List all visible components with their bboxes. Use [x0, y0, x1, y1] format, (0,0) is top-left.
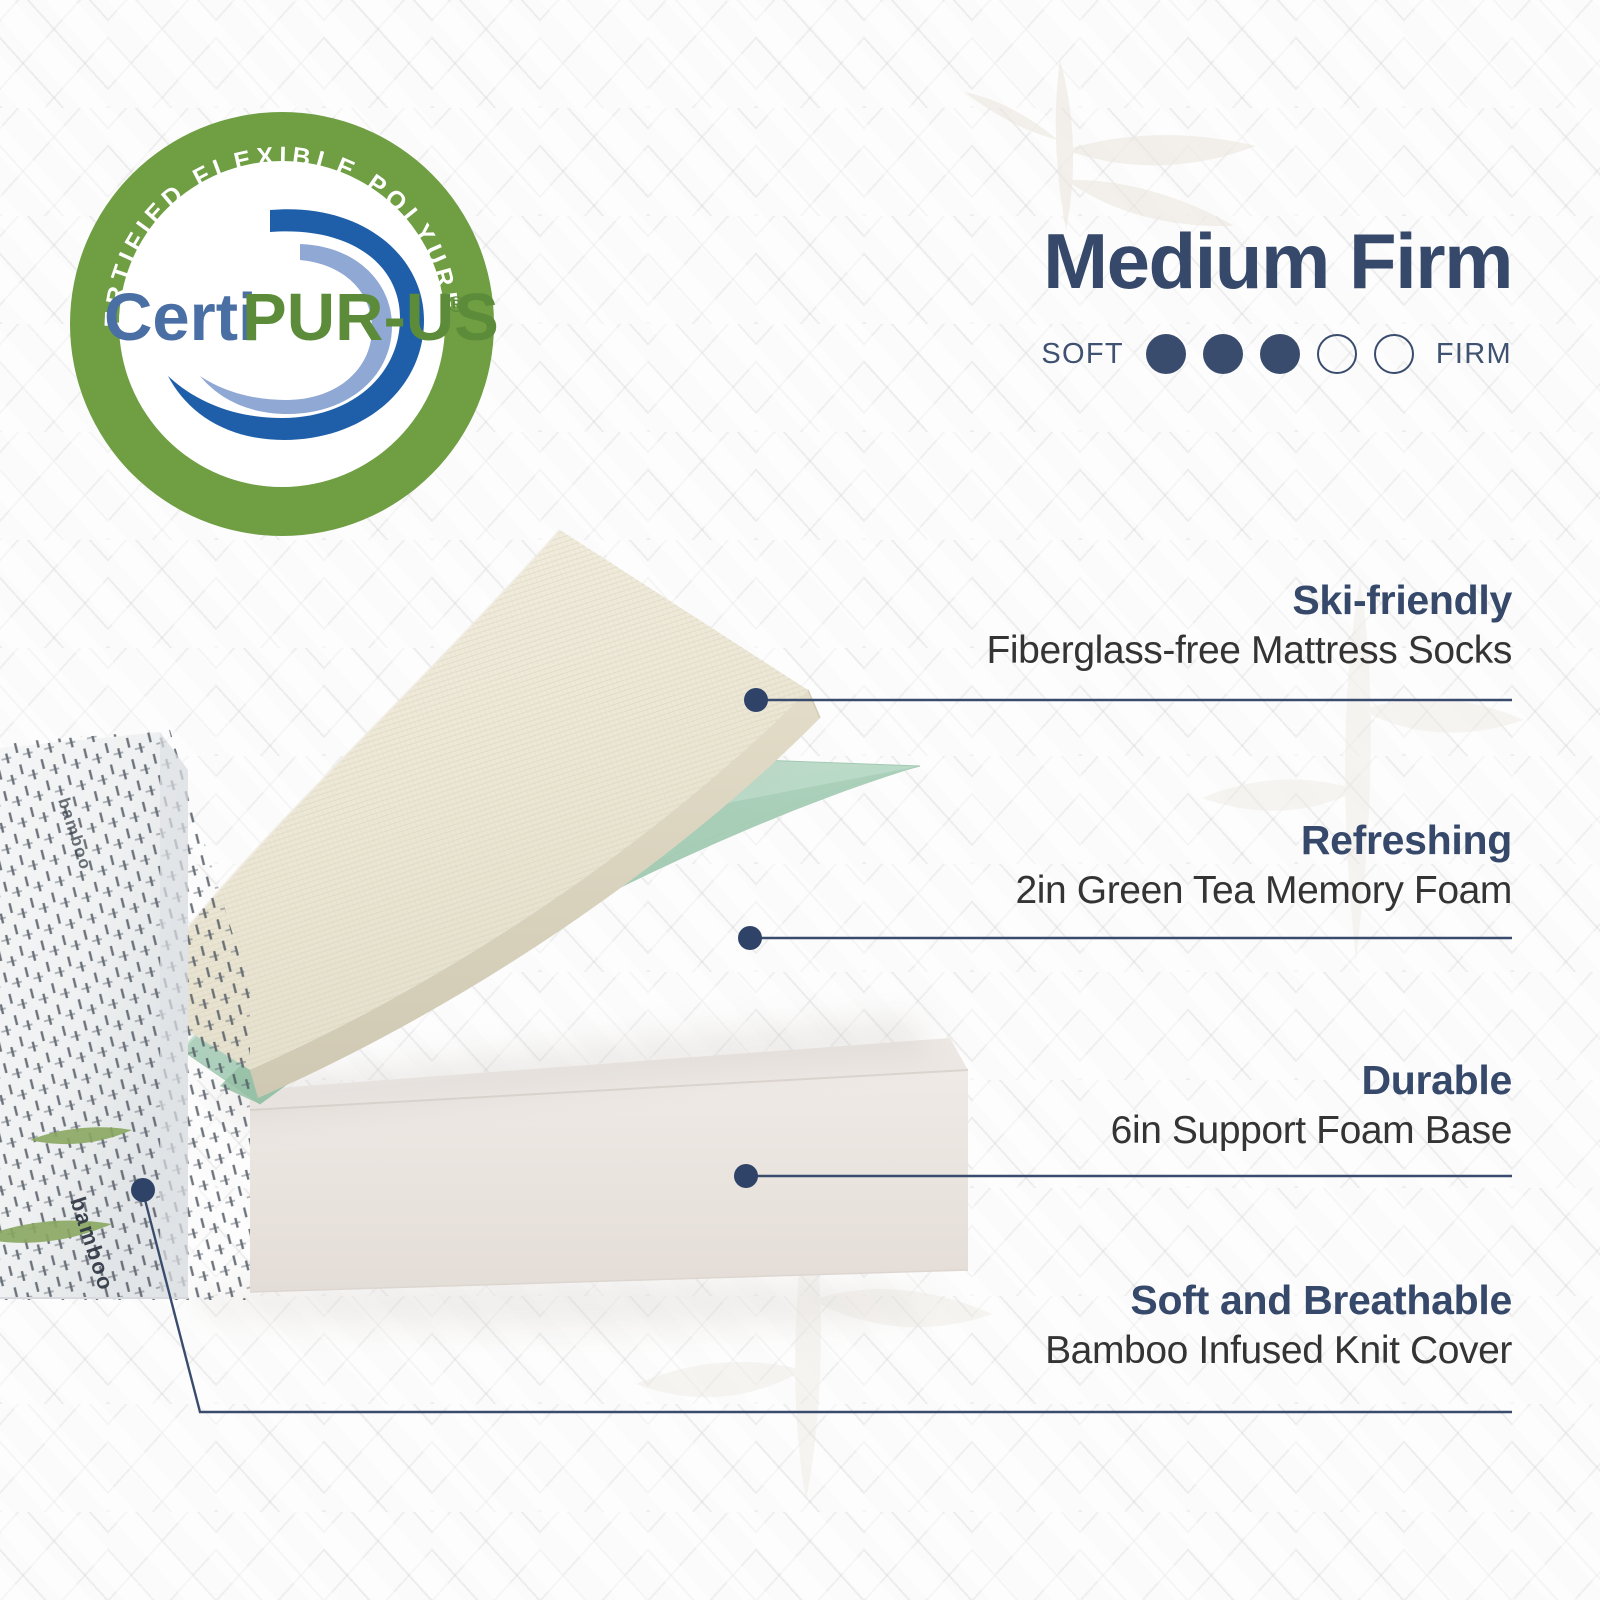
callout-title-refreshing: Refreshing — [892, 818, 1512, 864]
callout-subtitle-soft-and-breathable: Bamboo Infused Knit Cover — [892, 1328, 1512, 1375]
firmness-dot-3-filled — [1260, 334, 1300, 374]
callout-soft-and-breathable: Soft and Breathable Bamboo Infused Knit … — [892, 1278, 1512, 1375]
callout-title-ski-friendly: Ski-friendly — [892, 578, 1512, 624]
firmness-dot-group — [1146, 334, 1414, 374]
callout-durable: Durable 6in Support Foam Base — [892, 1058, 1512, 1155]
callout-subtitle-durable: 6in Support Foam Base — [892, 1108, 1512, 1155]
callout-subtitle-refreshing: 2in Green Tea Memory Foam — [892, 868, 1512, 915]
callout-subtitle-ski-friendly: Fiberglass-free Mattress Socks — [892, 628, 1512, 675]
firmness-soft-label: SOFT — [1041, 338, 1124, 371]
firmness-dot-5-empty — [1374, 334, 1414, 374]
callout-ski-friendly: Ski-friendly Fiberglass-free Mattress So… — [892, 578, 1512, 675]
firmness-dot-4-empty — [1317, 334, 1357, 374]
badge-registered-mark: ® — [448, 292, 464, 317]
firmness-firm-label: FIRM — [1436, 338, 1512, 371]
header-block: Medium Firm SOFT FIRM — [812, 222, 1512, 374]
callout-title-soft-and-breathable: Soft and Breathable — [892, 1278, 1512, 1324]
page-title: Medium Firm — [812, 222, 1512, 300]
firmness-dot-2-filled — [1203, 334, 1243, 374]
firmness-scale: SOFT FIRM — [812, 334, 1512, 374]
firmness-dot-1-filled — [1146, 334, 1186, 374]
callout-refreshing: Refreshing 2in Green Tea Memory Foam — [892, 818, 1512, 915]
callout-title-durable: Durable — [892, 1058, 1512, 1104]
badge-wordmark-prefix: Certi — [104, 280, 257, 355]
mattress-layer-illustration: bamboo bamboo — [0, 470, 980, 1370]
bamboo-knit-cover-layer: bamboo bamboo — [0, 725, 250, 1370]
